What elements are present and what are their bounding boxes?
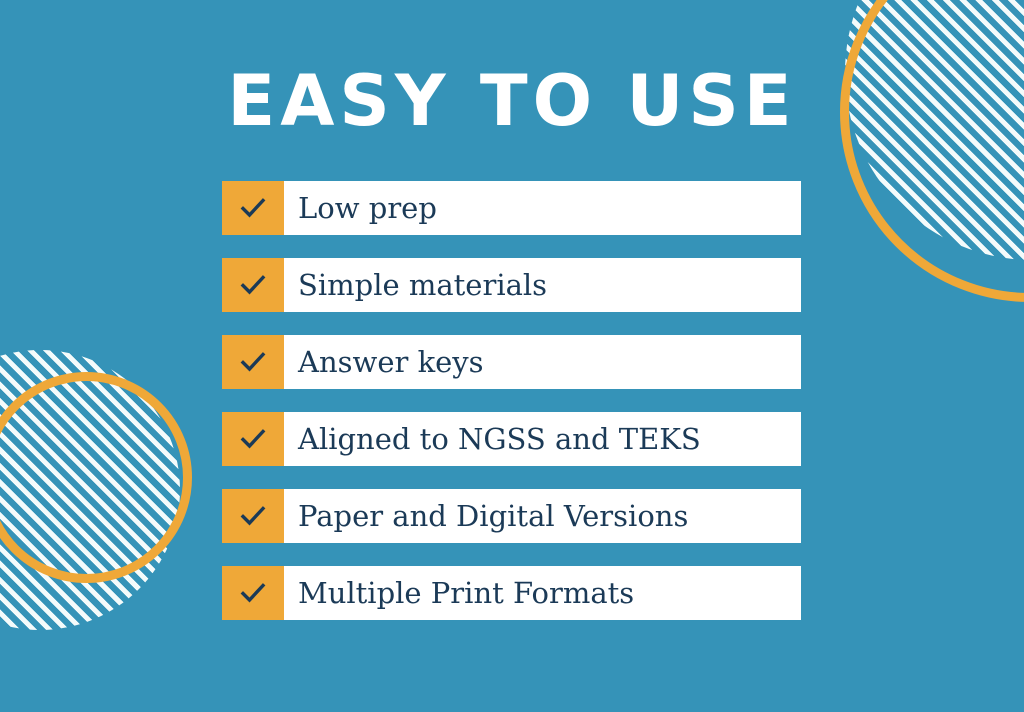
list-item: Simple materials <box>222 258 801 312</box>
check-icon-box <box>222 335 284 389</box>
list-item: Aligned to NGSS and TEKS <box>222 412 801 466</box>
check-icon <box>238 270 268 300</box>
check-icon-box <box>222 489 284 543</box>
check-icon <box>238 424 268 454</box>
list-item: Multiple Print Formats <box>222 566 801 620</box>
poster-content: EASY TO USE Low prep Simple materials <box>0 0 1024 712</box>
page-title: EASY TO USE <box>0 64 1024 138</box>
check-icon <box>238 501 268 531</box>
feature-label: Paper and Digital Versions <box>284 489 801 543</box>
poster-canvas: EASY TO USE Low prep Simple materials <box>0 0 1024 712</box>
check-icon <box>238 193 268 223</box>
feature-label: Multiple Print Formats <box>284 566 801 620</box>
list-item: Answer keys <box>222 335 801 389</box>
list-item: Low prep <box>222 181 801 235</box>
feature-label: Low prep <box>284 181 801 235</box>
check-icon-box <box>222 181 284 235</box>
check-icon-box <box>222 258 284 312</box>
check-icon <box>238 347 268 377</box>
feature-label: Simple materials <box>284 258 801 312</box>
feature-label: Answer keys <box>284 335 801 389</box>
list-item: Paper and Digital Versions <box>222 489 801 543</box>
feature-list: Low prep Simple materials Answer keys <box>222 181 801 620</box>
check-icon-box <box>222 566 284 620</box>
feature-label: Aligned to NGSS and TEKS <box>284 412 801 466</box>
check-icon <box>238 578 268 608</box>
check-icon-box <box>222 412 284 466</box>
